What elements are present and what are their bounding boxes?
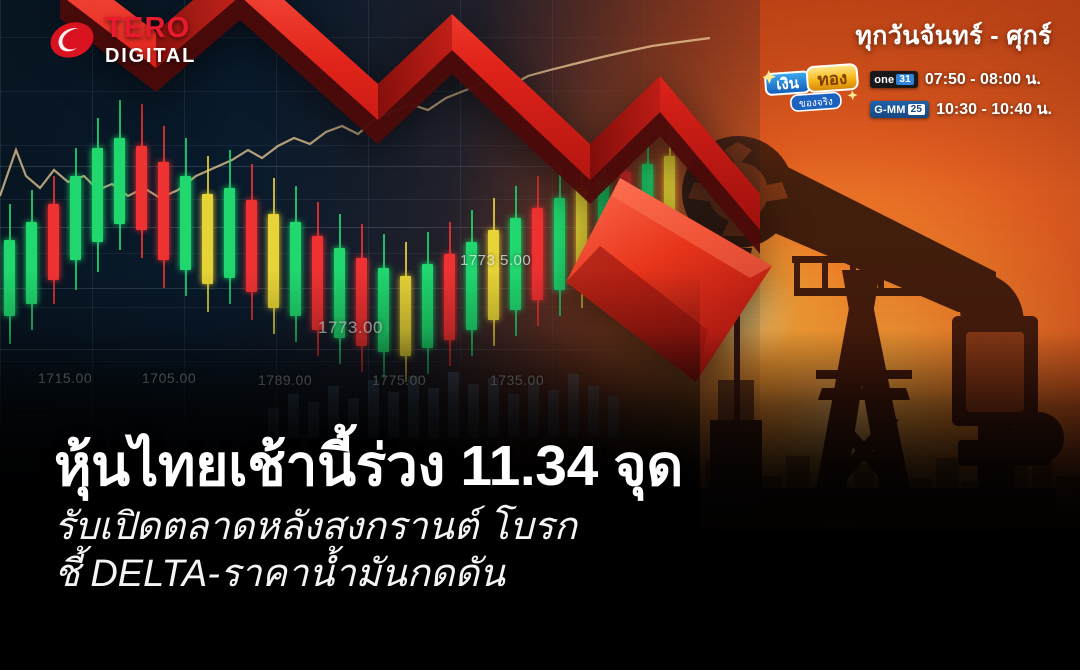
tero-digital-logo[interactable]: TERO DIGITAL <box>48 14 196 66</box>
logo-text-digital: DIGITAL <box>105 46 196 66</box>
schedule-days: ทุกวันจันทร์ - ศุกร์ <box>764 16 1052 56</box>
headline-block: หุ้นไทยเช้านี้ร่วง 11.34 จุด รับเปิดตลาด… <box>54 437 1040 598</box>
show-logo-ngoenthong[interactable]: เงิน ทอง ของจริง <box>763 60 862 119</box>
headline-main: หุ้นไทยเช้านี้ร่วง 11.34 จุด <box>54 437 1040 495</box>
broadcast-schedule: ทุกวันจันทร์ - ศุกร์ <box>764 16 1052 122</box>
channel-name: one <box>874 74 894 86</box>
headline-sub-line1: รับเปิดตลาดหลังสงกรานต์ โบรก <box>54 504 1040 551</box>
airing-row: G-MM2510:30 - 10:40 น. <box>870 97 1052 122</box>
airing-time: 10:30 - 10:40 น. <box>936 97 1052 122</box>
airing-row: one3107:50 - 08:00 น. <box>870 67 1052 92</box>
svg-text:ทอง: ทอง <box>817 69 848 91</box>
airing-time: 07:50 - 08:00 น. <box>925 67 1041 92</box>
channel-badge: G-MM25 <box>870 101 929 118</box>
headline-sub-line2: ชี้ DELTA-ราคาน้ำมันกดดัน <box>54 551 1040 598</box>
channel-badge: one31 <box>870 71 918 88</box>
logo-text-tero: TERO <box>105 14 196 43</box>
news-thumbnail: 1715.001705.001789.001775.001735.001773.… <box>0 0 1080 670</box>
channel-name: G-MM <box>874 104 905 116</box>
channel-number: 31 <box>896 74 914 85</box>
airing-times-list: one3107:50 - 08:00 น.G-MM2510:30 - 10:40… <box>870 63 1052 122</box>
tero-swirl-icon <box>48 16 96 64</box>
headline-sub: รับเปิดตลาดหลังสงกรานต์ โบรก ชี้ DELTA-ร… <box>54 504 1040 598</box>
svg-text:เงิน: เงิน <box>776 74 801 94</box>
channel-number: 25 <box>908 104 926 115</box>
